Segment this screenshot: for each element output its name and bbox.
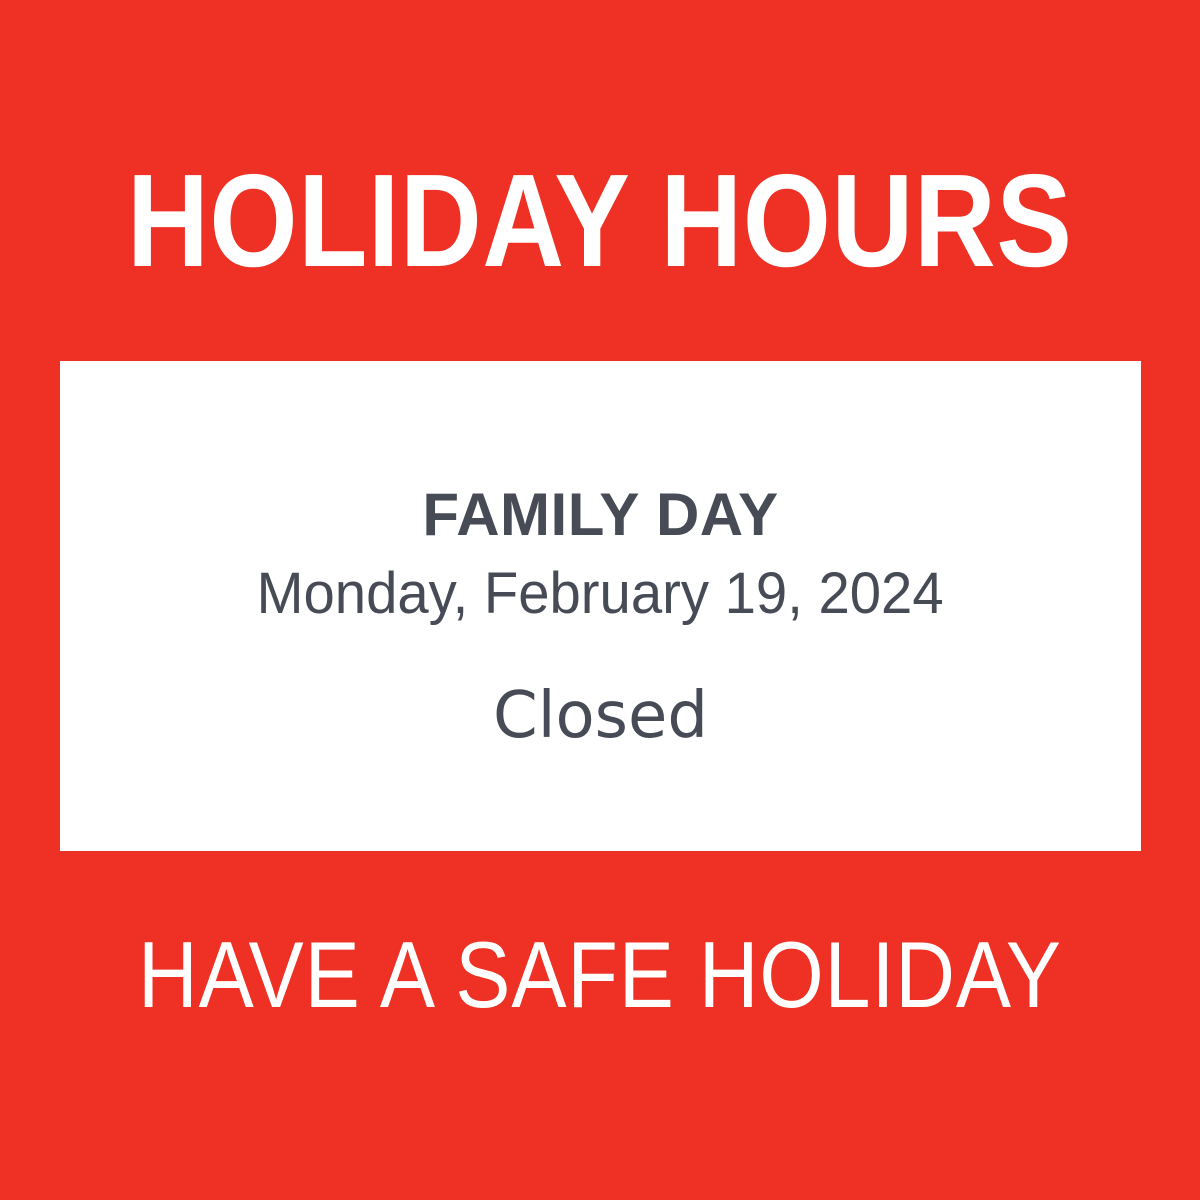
holiday-name: FAMILY DAY [422,483,778,548]
holiday-date: Monday, February 19, 2024 [257,562,944,627]
page-title: HOLIDAY HOURS [127,155,1072,287]
footer-banner: HAVE A SAFE HOLIDAY [0,920,1200,1030]
holiday-hours-sign: HOLIDAY HOURS FAMILY DAY Monday, Februar… [0,0,1200,1200]
footer-message: HAVE A SAFE HOLIDAY [138,928,1062,1022]
headline-banner: HOLIDAY HOURS [0,156,1200,286]
holiday-details-card: FAMILY DAY Monday, February 19, 2024 Clo… [60,361,1141,851]
status-badge: Closed [493,681,708,751]
